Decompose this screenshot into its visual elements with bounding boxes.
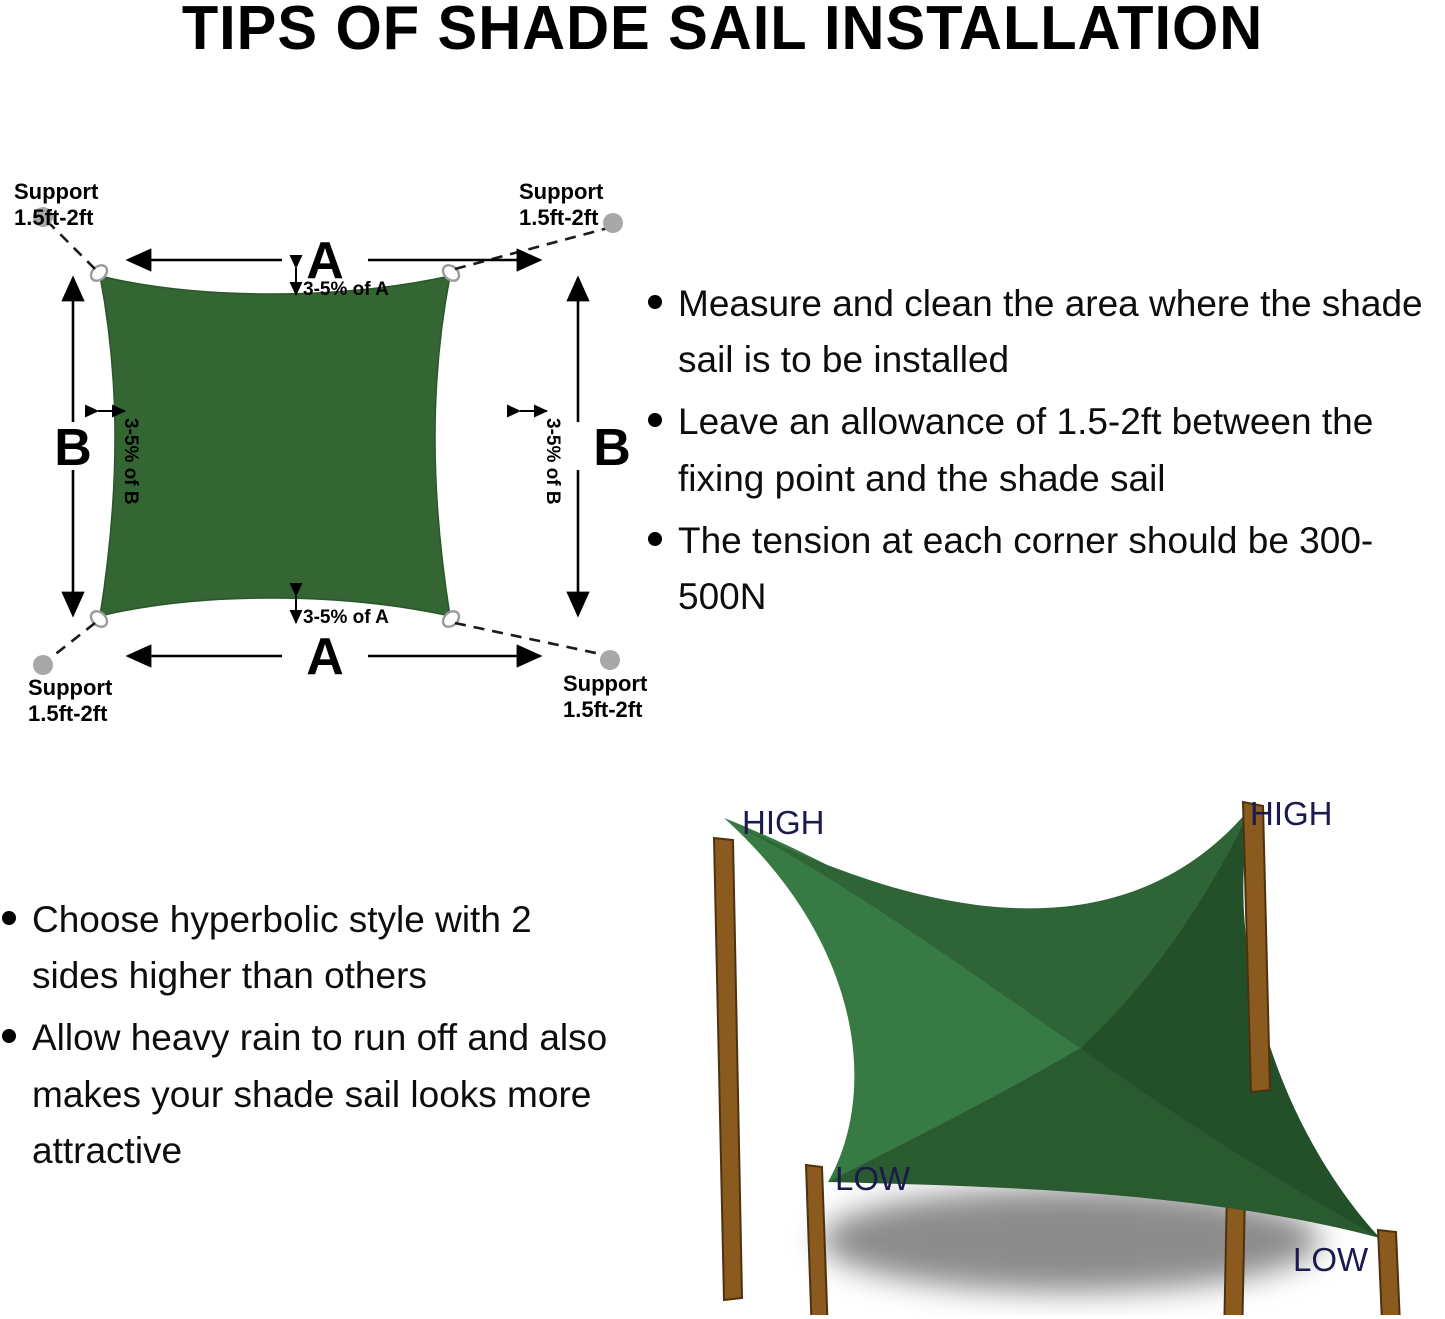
tip-text: Choose hyperbolic style with 2 sides hig… bbox=[32, 892, 627, 1004]
curvature-label-b-right: 3-5% of B bbox=[542, 418, 563, 505]
curvature-label-a-top: 3-5% of A bbox=[303, 279, 389, 300]
support-label-top-right-line2: 1.5ft-2ft bbox=[519, 205, 599, 230]
tip-text: The tension at each corner should be 300… bbox=[678, 513, 1445, 625]
bullet-dot-icon bbox=[648, 532, 662, 546]
list-item: Leave an allowance of 1.5-2ft between th… bbox=[648, 394, 1445, 506]
list-item: Choose hyperbolic style with 2 sides hig… bbox=[2, 892, 627, 1004]
list-item: The tension at each corner should be 300… bbox=[648, 513, 1445, 625]
page-title: TIPS OF SHADE SAIL INSTALLATION bbox=[29, 0, 1416, 61]
anchor-line-top-right bbox=[455, 228, 608, 269]
post-right-low bbox=[1378, 1230, 1402, 1315]
support-label-bottom-right-line1: Support bbox=[563, 671, 648, 696]
dimension-label-b-left: B bbox=[54, 419, 92, 477]
rectangle-sail-diagram: A 3-5% of A A 3-5% of A B 3-5% of B bbox=[0, 150, 660, 750]
anchor-line-bottom-right bbox=[455, 623, 605, 655]
anchor-dot-bottom-right bbox=[600, 650, 620, 670]
dimension-label-a-bottom: A bbox=[306, 628, 344, 686]
list-item: Allow heavy rain to run off and also mak… bbox=[2, 1010, 627, 1179]
label-low-left: LOW bbox=[835, 1160, 911, 1197]
curvature-label-b-left: 3-5% of B bbox=[120, 418, 141, 505]
bullet-dot-icon bbox=[648, 413, 662, 427]
list-item: Measure and clean the area where the sha… bbox=[648, 276, 1445, 388]
support-label-bottom-left-line1: Support bbox=[28, 675, 113, 700]
hyperbolic-sail-diagram: HIGH HIGH LOW LOW bbox=[680, 790, 1445, 1315]
curvature-label-a-bottom: 3-5% of A bbox=[303, 607, 389, 628]
post-left-high bbox=[714, 838, 742, 1300]
tip-text: Allow heavy rain to run off and also mak… bbox=[32, 1010, 627, 1179]
anchor-dot-top-right bbox=[603, 213, 623, 233]
sail-shape bbox=[100, 276, 450, 616]
hyperbolic-style-tips-list: Choose hyperbolic style with 2 sides hig… bbox=[2, 892, 627, 1185]
support-label-top-left-line2: 1.5ft-2ft bbox=[14, 205, 94, 230]
installation-tips-list: Measure and clean the area where the sha… bbox=[648, 276, 1445, 631]
label-low-right: LOW bbox=[1293, 1241, 1369, 1278]
tip-text: Leave an allowance of 1.5-2ft between th… bbox=[678, 394, 1445, 506]
bullet-dot-icon bbox=[2, 1029, 16, 1043]
bullet-dot-icon bbox=[2, 911, 16, 925]
support-label-top-right-line1: Support bbox=[519, 179, 604, 204]
label-high-right: HIGH bbox=[1250, 795, 1333, 832]
label-high-left: HIGH bbox=[742, 804, 825, 841]
post-left-low bbox=[806, 1165, 828, 1315]
tip-text: Measure and clean the area where the sha… bbox=[678, 276, 1445, 388]
bullet-dot-icon bbox=[648, 295, 662, 309]
dimension-label-b-right: B bbox=[593, 419, 631, 477]
support-label-bottom-right-line2: 1.5ft-2ft bbox=[563, 697, 643, 722]
anchor-dot-bottom-left bbox=[33, 655, 53, 675]
support-label-top-left-line1: Support bbox=[14, 179, 99, 204]
support-label-bottom-left-line2: 1.5ft-2ft bbox=[28, 701, 108, 726]
anchor-line-bottom-left bbox=[48, 623, 95, 660]
